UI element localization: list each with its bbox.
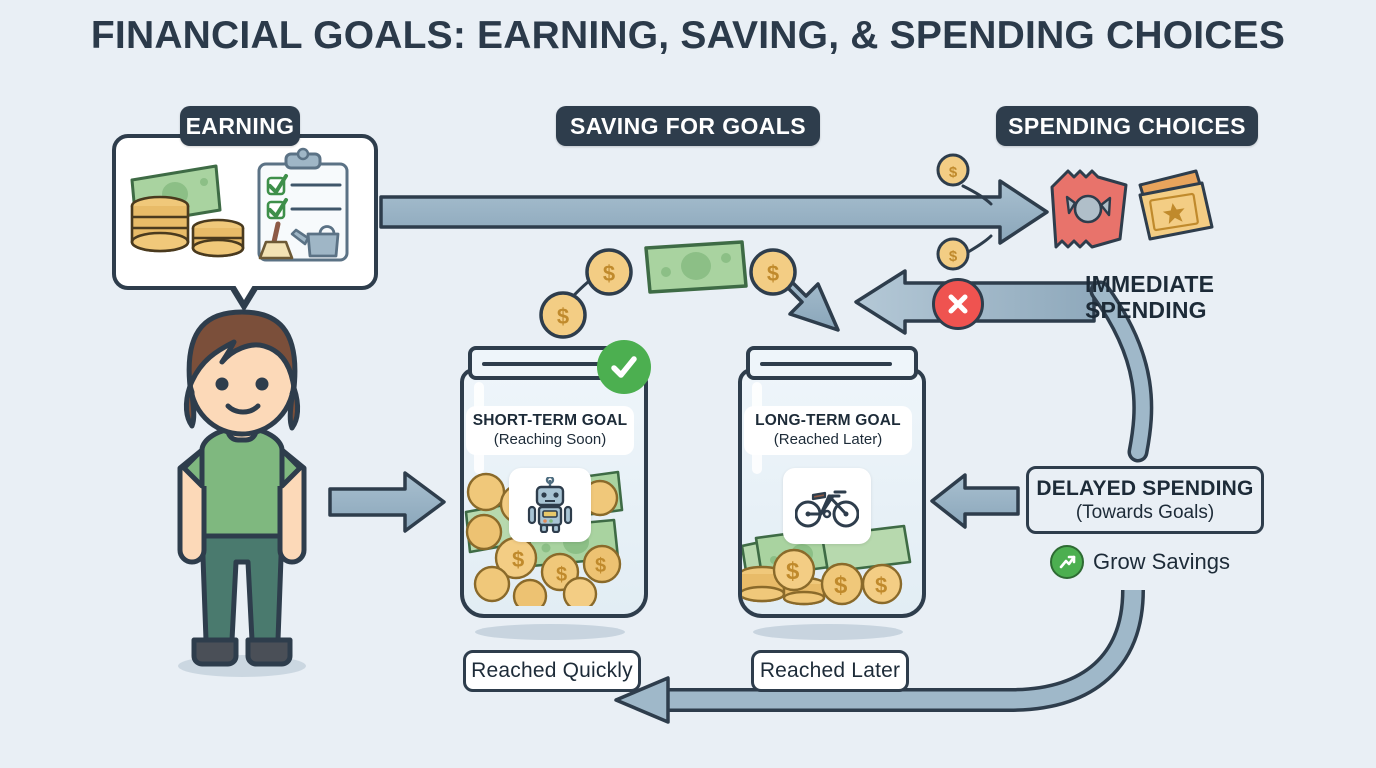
- svg-text:$: $: [875, 573, 887, 598]
- check-icon: [607, 350, 641, 384]
- delayed-spending-box: DELAYED SPENDING (Towards Goals): [1026, 466, 1264, 534]
- tickets-icon: [1140, 171, 1212, 239]
- svg-text:$: $: [512, 547, 524, 572]
- grow-savings-text: Grow Savings: [1093, 549, 1230, 575]
- svg-text:$: $: [556, 564, 567, 586]
- coin-arc-left: [565, 272, 601, 305]
- arrow-money-into-longterm: [774, 268, 838, 330]
- bicycle-icon: [795, 483, 859, 529]
- jar-label-sub: (Reaching Soon): [466, 431, 634, 448]
- eye-left: [216, 378, 229, 391]
- arrow-delayed-to-jar: [932, 475, 1018, 527]
- immediate-spending-icons: [1040, 165, 1240, 255]
- earning-card-icons: [116, 138, 366, 278]
- caption-reached-quickly: Reached Quickly: [463, 650, 641, 692]
- jar-label-sub: (Reached Later): [744, 431, 912, 448]
- caption-text: Reached Later: [760, 659, 900, 683]
- robot-toy-icon: [524, 477, 576, 533]
- grow-savings-note: Grow Savings: [1050, 545, 1230, 579]
- eye-right: [256, 378, 269, 391]
- jar-label-long-term: LONG-TERM GOAL (Reached Later): [744, 406, 912, 455]
- candy-wrapper-icon: [1052, 171, 1126, 247]
- caption-reached-later: Reached Later: [751, 650, 909, 692]
- immediate-spending-label: IMMEDIATE SPENDING: [1085, 272, 1214, 324]
- delayed-spending-sub: (Towards Goals): [1076, 502, 1214, 524]
- svg-text:$: $: [786, 558, 800, 585]
- jar-label-main: LONG-TERM GOAL: [744, 412, 912, 430]
- badge-saving: SAVING FOR GOALS: [556, 106, 820, 146]
- svg-text:$: $: [834, 572, 848, 599]
- coin-stack-icon: [132, 197, 188, 251]
- status-badge-check: [597, 340, 651, 394]
- immediate-spending-line2: SPENDING: [1085, 298, 1214, 324]
- trending-up-icon: [1057, 552, 1077, 572]
- arrow-earning-to-spending: [381, 181, 1047, 243]
- earning-card: [112, 134, 378, 290]
- coin-stack-small-icon: [193, 220, 243, 256]
- jar-shadow-long-term: [753, 624, 903, 640]
- jar-long-term: $ $ $ LONG-TERM GOAL (Reached Later): [738, 340, 918, 610]
- jar-neck-line: [760, 362, 892, 366]
- goal-tile-bicycle: [783, 468, 871, 544]
- badge-earning: EARNING: [180, 106, 300, 146]
- trending-up-badge: [1050, 545, 1084, 579]
- delayed-spending-main: DELAYED SPENDING: [1036, 477, 1253, 501]
- badge-spending: SPENDING CHOICES: [996, 106, 1258, 146]
- svg-text:$: $: [595, 555, 606, 577]
- child-character: [140, 300, 350, 680]
- infographic-canvas: FINANCIAL GOALS: EARNING, SAVING, & SPEN…: [0, 0, 1376, 768]
- immediate-spending-line1: IMMEDIATE: [1085, 272, 1214, 298]
- speech-bubble-tail-inner: [227, 272, 261, 300]
- caption-text: Reached Quickly: [471, 659, 633, 683]
- jar-label-main: SHORT-TERM GOAL: [466, 412, 634, 430]
- jar-shadow-short-term: [475, 624, 625, 640]
- jar-label-short-term: SHORT-TERM GOAL (Reaching Soon): [466, 406, 634, 455]
- jar-neck-line: [482, 362, 614, 366]
- blocked-marker: [932, 278, 984, 330]
- goal-tile-robot: [509, 468, 591, 542]
- x-icon: [945, 291, 971, 317]
